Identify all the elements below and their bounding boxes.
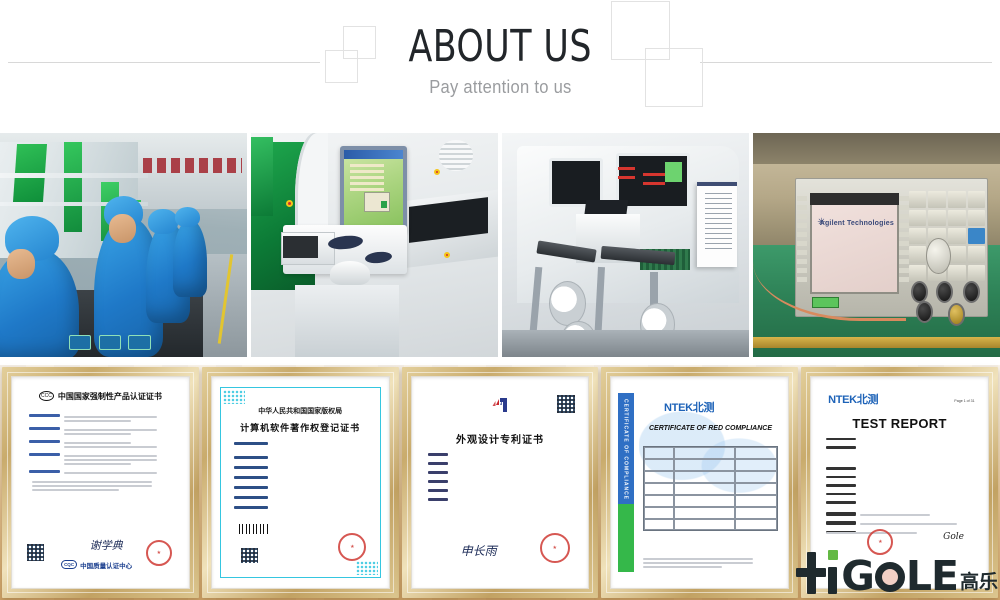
header-rule-left bbox=[8, 62, 320, 63]
page-header: ABOUT US Pay attention to us bbox=[0, 0, 1000, 122]
certificate-frame-red-compliance: CERTIFICATE OF COMPLIANCE NTEK北测 CERTIFI… bbox=[601, 367, 798, 598]
cert3-signature: 申长雨 bbox=[461, 542, 497, 559]
ccc-signature: 谢学典 bbox=[90, 537, 123, 553]
page-subtitle: Pay attention to us bbox=[429, 77, 571, 98]
ccc-field-rows bbox=[29, 414, 172, 496]
cert4-table bbox=[643, 446, 779, 531]
certificate-gallery: CCC 中国国家强制性产品认证证书 谢学典 ★ CQC 中国质量认证中心 bbox=[0, 365, 1000, 600]
photo-smt-inspection-machine bbox=[251, 133, 498, 357]
certificate-frame-design-patent: 外观设计专利证书 申长雨 ★ bbox=[402, 367, 599, 598]
agilent-screen-text: Agilent Technologies bbox=[820, 220, 894, 227]
ccc-title: 中国国家强制性产品认证证书 bbox=[58, 391, 162, 402]
cert5-page-label: Page 1 of 31 bbox=[954, 399, 974, 403]
decor-square-right-lower bbox=[645, 48, 703, 107]
plus-icon bbox=[796, 550, 826, 594]
ccc-mark-icon: CCC bbox=[39, 391, 54, 401]
photo-pick-and-place-machines bbox=[502, 133, 749, 357]
decor-square-left-lower bbox=[325, 50, 358, 83]
cert2-qr-code-icon bbox=[241, 548, 258, 563]
cert3-qr-code-icon bbox=[557, 395, 575, 413]
photo-agilent-test-equipment: ✳ Agilent Technologies bbox=[753, 133, 1000, 357]
higole-hi-mark bbox=[796, 550, 839, 594]
cert4-sidebar-label: CERTIFICATE OF COMPLIANCE bbox=[623, 399, 629, 500]
cqc-mark-icon: CQC bbox=[61, 560, 77, 569]
ntek-brand-cn-report: 北测 bbox=[857, 394, 878, 406]
cert4-footer bbox=[643, 556, 772, 570]
cqc-issuer-label: 中国质量认证中心 bbox=[80, 560, 132, 570]
ntek-brand-cn: 北测 bbox=[693, 402, 714, 414]
ntek-brand: NTEK bbox=[664, 402, 693, 414]
higole-logo-watermark: G LE 高乐 bbox=[796, 550, 998, 594]
cert3-field-rows bbox=[428, 453, 571, 532]
ccc-issuer: CQC 中国质量认证中心 bbox=[61, 560, 132, 570]
cert2-title: 计算机软件著作权登记证书 bbox=[225, 421, 375, 434]
cert4-sidebar: CERTIFICATE OF COMPLIANCE bbox=[618, 393, 634, 572]
cert2-title-top: 中华人民共和国国家版权局 bbox=[229, 406, 372, 416]
higole-wordmark: G LE bbox=[841, 560, 958, 594]
page-title: ABOUT US bbox=[408, 24, 591, 70]
cert3-title: 外观设计专利证书 bbox=[425, 431, 575, 446]
ccc-qr-code-icon bbox=[27, 544, 44, 561]
letter-o-ring-icon bbox=[875, 562, 905, 592]
photo-assembly-line bbox=[0, 133, 247, 357]
cert4-title: CERTIFICATE OF RED COMPLIANCE bbox=[643, 425, 779, 432]
cert2-barcode-icon bbox=[239, 524, 269, 534]
letter-g: G bbox=[841, 560, 874, 594]
letters-le: LE bbox=[906, 560, 958, 594]
cert2-field-rows bbox=[234, 442, 366, 530]
header-rule-right bbox=[700, 62, 992, 63]
certificate-frame-ccc: CCC 中国国家强制性产品认证证书 谢学典 ★ CQC 中国质量认证中心 bbox=[2, 367, 199, 598]
cert3-red-seal-icon: ★ bbox=[540, 533, 570, 563]
cert5-signature: Gole bbox=[943, 532, 964, 542]
certificate-frame-software-copyright: 中华人民共和国国家版权局 计算机软件著作权登记证书 ★ bbox=[202, 367, 399, 598]
higole-wordmark-cn: 高乐 bbox=[960, 573, 998, 592]
ccc-red-seal-icon: ★ bbox=[146, 540, 172, 566]
photo-gallery: ✳ Agilent Technologies bbox=[0, 133, 1000, 357]
cert5-title: TEST REPORT bbox=[824, 416, 974, 431]
ntek-brand-report: NTEK bbox=[828, 394, 857, 406]
ntek-logo: NTEK北测 bbox=[664, 399, 714, 415]
cnipa-logo-icon bbox=[489, 397, 511, 414]
ntek-logo-report: NTEK北测 bbox=[828, 391, 878, 407]
letter-i-icon bbox=[826, 550, 839, 594]
header-title-block: ABOUT US Pay attention to us bbox=[0, 0, 1000, 122]
